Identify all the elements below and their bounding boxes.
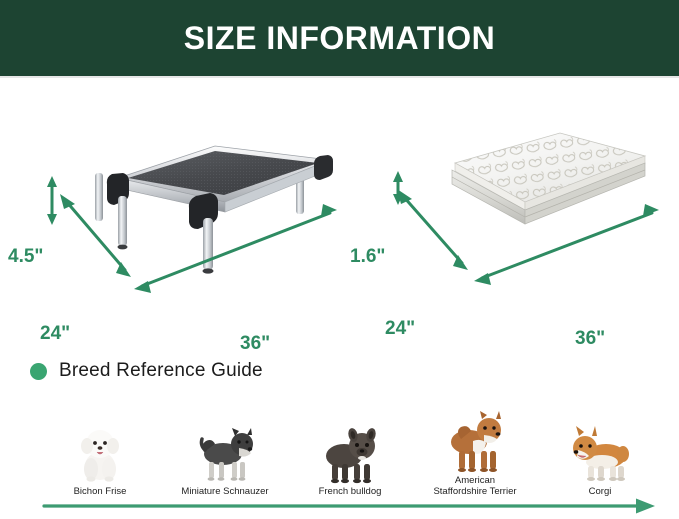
breed-label: Bichon Frise: [74, 487, 127, 498]
dog-french-bulldog-icon: [295, 416, 405, 484]
mattress-illustration: [0, 78, 679, 308]
green-dot-icon: [30, 363, 47, 380]
dog-miniature-schnauzer-icon: [170, 416, 280, 484]
breed-label: French bulldog: [319, 487, 382, 498]
breed-reference-heading: Breed Reference Guide: [30, 360, 263, 382]
breed-reference-label: Breed Reference Guide: [59, 360, 263, 382]
breed-item-miniature-schnauzer: Miniature Schnauzer: [165, 398, 285, 498]
page-title: SIZE INFORMATION: [184, 22, 495, 54]
products-section: 4.5" 24" 36": [0, 78, 679, 308]
dog-american-staffordshire-terrier-icon: [420, 405, 530, 473]
breed-item-american-staffordshire-terrier: AmericanStaffordshire Terrier: [415, 398, 535, 498]
breed-item-corgi: Corgi: [540, 398, 660, 498]
breed-label: AmericanStaffordshire Terrier: [433, 476, 516, 498]
breed-item-bichon-frise: Bichon Frise: [40, 398, 160, 498]
mattress-length-label: 36": [575, 328, 605, 350]
bed-width-label: 24": [40, 323, 70, 345]
breed-list: Bichon Frise: [40, 398, 660, 498]
header-banner: SIZE INFORMATION: [0, 0, 679, 76]
size-progression-arrow: [42, 498, 657, 514]
dog-corgi-icon: [545, 416, 655, 484]
dog-bichon-frise-icon: [45, 416, 155, 484]
bed-length-label: 36": [240, 333, 270, 355]
size-information-infographic: SIZE INFORMATION 4.5" 24" 36": [0, 0, 679, 518]
breed-label: Miniature Schnauzer: [181, 487, 268, 498]
breed-item-french-bulldog: French bulldog: [290, 398, 410, 498]
breed-label: Corgi: [589, 487, 612, 498]
mattress-width-label: 24": [385, 318, 415, 340]
